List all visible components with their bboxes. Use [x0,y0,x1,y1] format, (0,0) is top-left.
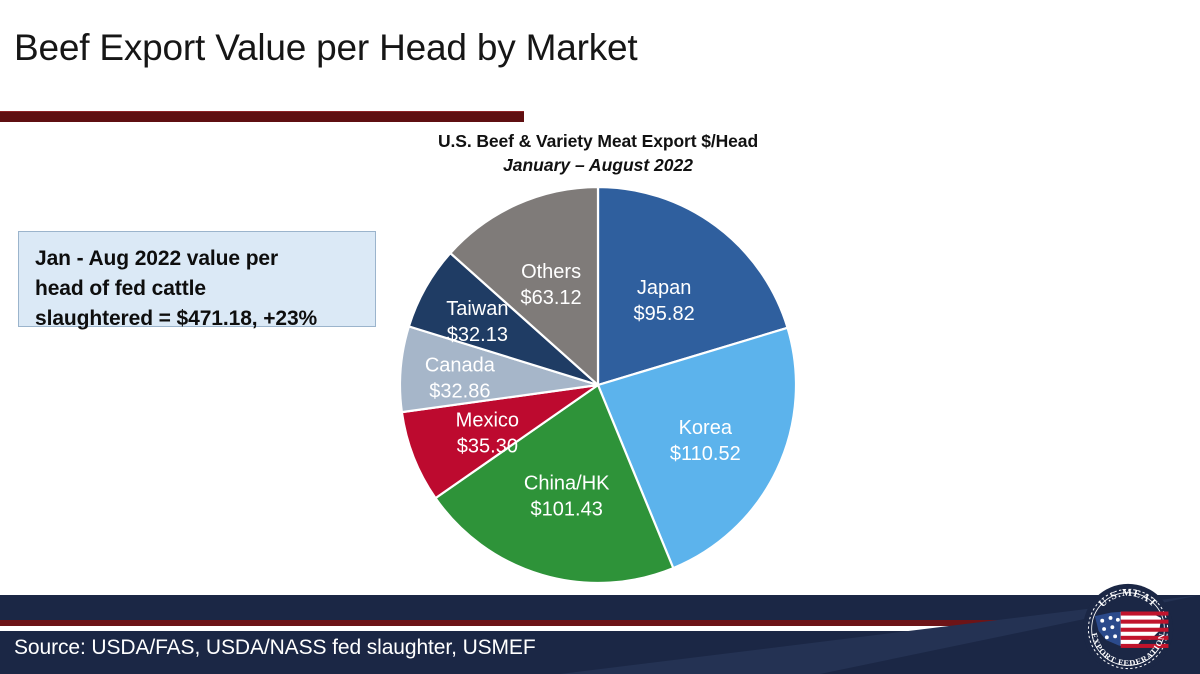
pie-label-taiwan: Taiwan [446,298,508,320]
usmef-logo: U.S.MEAT EXPORT FEDERATION [1082,583,1174,674]
pie-value-china-hk: $101.43 [531,498,603,520]
title-accent-rule [0,111,524,122]
footer-diagonal-wedge [0,595,1200,674]
source-text: Source: USDA/FAS, USDA/NASS fed slaughte… [14,636,536,660]
chart-subtitle: January – August 2022 [398,155,798,176]
pie-value-others: $63.12 [520,287,581,309]
callout-line-1: Jan - Aug 2022 value per [35,244,361,274]
pie-value-canada: $32.86 [429,381,490,403]
pie-label-japan: Japan [637,277,692,299]
pie-label-china-hk: China/HK [524,472,610,494]
pie-value-korea: $110.52 [670,443,741,465]
pie-label-canada: Canada [425,355,496,377]
pie-value-mexico: $35.30 [457,435,518,457]
pie-chart: Japan$95.82Korea$110.52China/HK$101.43Me… [396,183,800,587]
callout-line-2: head of fed cattle [35,274,361,304]
pie-chart-svg: Japan$95.82Korea$110.52China/HK$101.43Me… [396,183,800,587]
pie-value-taiwan: $32.13 [447,324,508,346]
pie-label-mexico: Mexico [456,409,519,431]
footer-bar: Source: USDA/FAS, USDA/NASS fed slaughte… [0,595,1200,674]
slide-canvas: Beef Export Value per Head by Market Jan… [0,0,1200,674]
pie-label-others: Others [521,261,581,283]
pie-label-korea: Korea [679,417,733,439]
page-title: Beef Export Value per Head by Market [14,27,638,69]
callout-line-3: slaughtered = $471.18, +23% [35,304,361,334]
chart-title: U.S. Beef & Variety Meat Export $/Head [398,131,798,152]
chart-heading: U.S. Beef & Variety Meat Export $/Head J… [398,131,798,176]
callout-box: Jan - Aug 2022 value per head of fed cat… [18,231,376,327]
pie-value-japan: $95.82 [634,303,695,325]
